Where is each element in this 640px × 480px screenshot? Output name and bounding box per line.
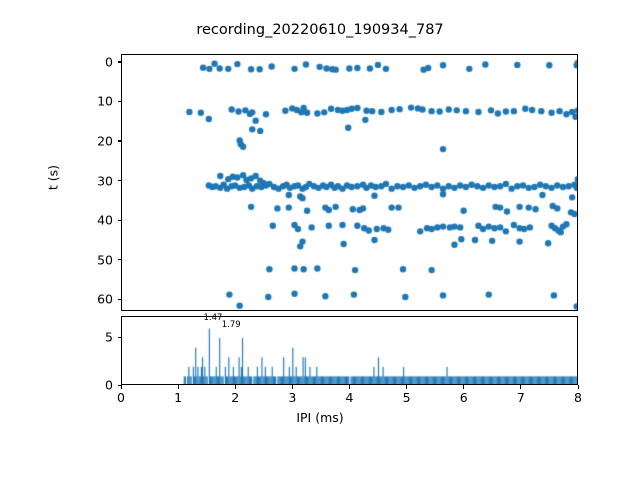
x-tick-label: 2 [231,390,239,405]
scatter-y-tick-mark [118,259,122,260]
x-tick-mark [578,385,579,389]
scatter-y-tick-label: 10 [82,94,113,109]
x-tick-mark [520,385,521,389]
scatter-y-tick-label: 40 [82,213,113,228]
scatter-y-tick-label: 20 [82,133,113,148]
x-tick-label: 4 [346,390,354,405]
histogram-peak-label: 1.79 [222,320,241,330]
x-tick-label: 0 [117,390,125,405]
scatter-y-tick-label: 0 [82,54,113,69]
scatter-plot-canvas [122,55,578,311]
x-tick-label: 7 [517,390,525,405]
histogram-axes [121,316,578,385]
x-tick-mark [235,385,236,389]
x-tick-label: 5 [403,390,411,405]
scatter-y-tick-label: 30 [82,173,113,188]
x-tick-label: 1 [174,390,182,405]
scatter-y-tick-mark [118,299,122,300]
y-axis-label: t (s) [46,118,61,238]
x-tick-mark [292,385,293,389]
histogram-peak-label: 1.47 [204,313,223,323]
x-tick-mark [463,385,464,389]
x-tick-label: 6 [460,390,468,405]
x-tick-mark [178,385,179,389]
histogram-canvas [122,317,578,385]
x-axis-label: IPI (ms) [0,410,640,425]
scatter-plot-axes [121,54,578,311]
x-tick-mark [349,385,350,389]
x-tick-mark [121,385,122,389]
scatter-y-tick-mark [118,220,122,221]
histogram-y-tick-label: 5 [82,330,113,345]
matplotlib-figure: recording_20220610_190934_787 0102030405… [0,0,640,480]
x-tick-labels: 012345678 [0,390,640,406]
scatter-y-tick-mark [118,61,122,62]
scatter-y-tick-label: 50 [82,252,113,267]
x-tick-mark [406,385,407,389]
x-tick-label: 8 [574,390,582,405]
x-tick-label: 3 [288,390,296,405]
figure-title: recording_20220610_190934_787 [0,22,640,38]
scatter-y-tick-mark [118,180,122,181]
histogram-y-tick-mark [118,337,122,338]
scatter-y-tick-mark [118,140,122,141]
scatter-y-tick-label: 60 [82,292,113,307]
scatter-y-tick-mark [118,101,122,102]
